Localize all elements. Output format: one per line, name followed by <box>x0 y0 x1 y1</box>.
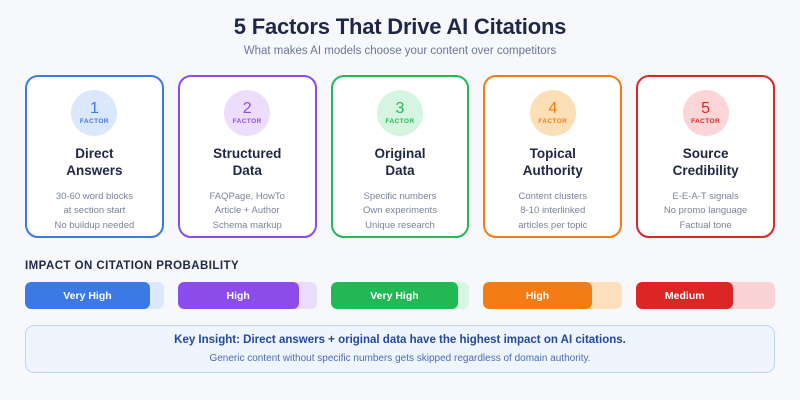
key-insight-box: Key Insight: Direct answers + original d… <box>25 325 775 373</box>
factor-title-line1-1: Direct <box>75 146 113 161</box>
factor-badge-label-2: FACTOR <box>233 119 262 126</box>
factor-title-line1-4: Topical <box>530 146 576 161</box>
factor-badge-label-3: FACTOR <box>385 119 414 126</box>
factor-card-5[interactable]: 5 FACTOR Source Credibility E-E-A-T sign… <box>636 75 775 238</box>
factor-desc-4: Content clusters 8-10 interlinked articl… <box>518 190 587 234</box>
impact-bar-fill-3: Very High <box>331 282 459 309</box>
factor-card-1[interactable]: 1 FACTOR Direct Answers 30-60 word block… <box>25 75 164 238</box>
impact-bar-label-5: Medium <box>665 290 705 302</box>
factor-number-1: 1 <box>90 101 99 117</box>
factor-badge-label-5: FACTOR <box>691 119 720 126</box>
factor-badge-label-4: FACTOR <box>538 119 567 126</box>
factor-desc-line1-3: Specific numbers <box>364 191 437 202</box>
factor-badge-1: 1 FACTOR <box>71 90 117 136</box>
factor-desc-line2-3: Own experiments <box>363 205 437 216</box>
factor-number-3: 3 <box>396 101 405 117</box>
factor-title-1: Direct Answers <box>66 145 122 180</box>
factor-badge-label-1: FACTOR <box>80 119 109 126</box>
key-insight-sub: Generic content without specific numbers… <box>209 353 590 365</box>
factor-desc-line2-5: No promo language <box>664 205 747 216</box>
impact-bar-label-2: High <box>227 290 250 302</box>
factor-desc-line2-4: 8-10 interlinked <box>520 205 585 216</box>
factor-desc-line3-2: Schema markup <box>213 220 282 231</box>
impact-heading: IMPACT ON CITATION PROBABILITY <box>25 260 775 272</box>
factor-desc-line3-3: Unique research <box>365 220 435 231</box>
factor-card-3[interactable]: 3 FACTOR Original Data Specific numbers … <box>331 75 470 238</box>
factor-title-line2-4: Authority <box>523 163 583 178</box>
factor-desc-5: E-E-A-T signals No promo language Factua… <box>664 190 747 234</box>
page-subtitle: What makes AI models choose your content… <box>25 45 775 59</box>
impact-bar-track-2: High <box>178 282 317 309</box>
key-insight-main: Key Insight: Direct answers + original d… <box>174 334 626 348</box>
page-title: 5 Factors That Drive AI Citations <box>25 14 775 40</box>
impact-bar-label-4: High <box>526 290 549 302</box>
factor-desc-line3-1: No buildup needed <box>55 220 135 231</box>
impact-bar-label-3: Very High <box>370 290 418 302</box>
factor-number-5: 5 <box>701 101 710 117</box>
factor-desc-line1-2: FAQPage, HowTo <box>209 191 285 202</box>
factor-desc-line1-5: E-E-A-T signals <box>672 191 738 202</box>
factor-title-5: Source Credibility <box>673 145 739 180</box>
factor-number-2: 2 <box>243 101 252 117</box>
factor-title-line1-2: Structured <box>213 146 281 161</box>
factor-desc-line1-4: Content clusters <box>518 191 587 202</box>
impact-bar-fill-5: Medium <box>636 282 733 309</box>
impact-bar-fill-4: High <box>483 282 591 309</box>
impact-bar-label-1: Very High <box>63 290 111 302</box>
impact-bar-track-1: Very High <box>25 282 164 309</box>
header: 5 Factors That Drive AI Citations What m… <box>25 0 775 59</box>
factor-desc-line3-5: Factual tone <box>679 220 731 231</box>
impact-bar-fill-2: High <box>178 282 299 309</box>
factor-desc-line3-4: articles per topic <box>518 220 587 231</box>
factor-desc-line2-2: Article + Author <box>215 205 280 216</box>
impact-bar-track-3: Very High <box>331 282 470 309</box>
factor-desc-line1-1: 30-60 word blocks <box>56 191 133 202</box>
factor-card-2[interactable]: 2 FACTOR Structured Data FAQPage, HowTo … <box>178 75 317 238</box>
impact-bar-track-5: Medium <box>636 282 775 309</box>
impact-bars: Very High High Very High High Medium <box>25 282 775 309</box>
factor-title-line1-3: Original <box>374 146 425 161</box>
factor-title-4: Topical Authority <box>523 145 583 180</box>
impact-bar-track-4: High <box>483 282 622 309</box>
impact-bar-fill-1: Very High <box>25 282 150 309</box>
factor-badge-5: 5 FACTOR <box>683 90 729 136</box>
infographic-page: 5 Factors That Drive AI Citations What m… <box>0 0 800 400</box>
factor-title-line2-3: Data <box>385 163 414 178</box>
factor-title-line2-2: Data <box>233 163 262 178</box>
factor-title-line1-5: Source <box>683 146 729 161</box>
factor-badge-3: 3 FACTOR <box>377 90 423 136</box>
factor-cards: 1 FACTOR Direct Answers 30-60 word block… <box>25 75 775 238</box>
factor-badge-2: 2 FACTOR <box>224 90 270 136</box>
factor-number-4: 4 <box>548 101 557 117</box>
factor-badge-4: 4 FACTOR <box>530 90 576 136</box>
factor-title-2: Structured Data <box>213 145 281 180</box>
factor-desc-1: 30-60 word blocks at section start No bu… <box>55 190 135 234</box>
factor-title-line2-5: Credibility <box>673 163 739 178</box>
factor-title-line2-1: Answers <box>66 163 122 178</box>
factor-title-3: Original Data <box>374 145 425 180</box>
factor-desc-2: FAQPage, HowTo Article + Author Schema m… <box>209 190 285 234</box>
factor-desc-3: Specific numbers Own experiments Unique … <box>363 190 437 234</box>
factor-desc-line2-1: at section start <box>64 205 126 216</box>
factor-card-4[interactable]: 4 FACTOR Topical Authority Content clust… <box>483 75 622 238</box>
